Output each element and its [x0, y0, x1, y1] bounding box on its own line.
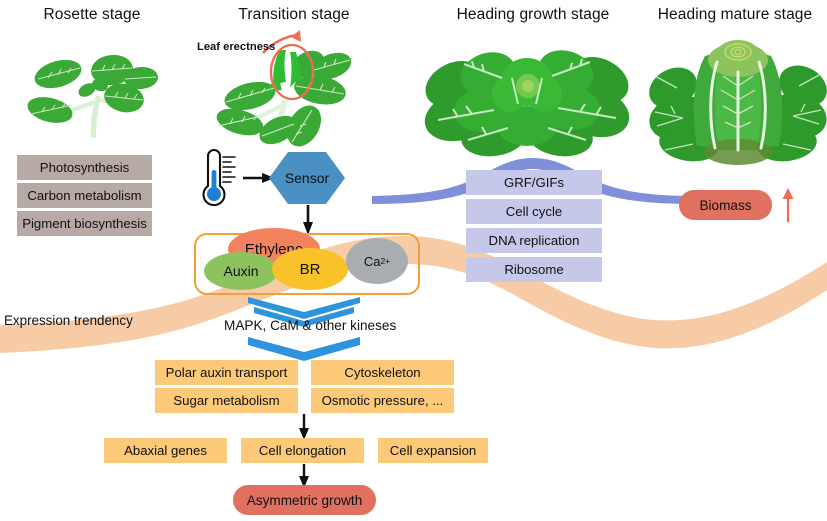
- leaf-erectness-label: Leaf erectness: [197, 41, 275, 53]
- stage-title-heading-growth: Heading growth stage: [433, 6, 633, 24]
- heading-box-grf-gifs[interactable]: GRF/GIFs: [466, 170, 602, 195]
- arrow-sensor-to-hormones: [300, 205, 316, 235]
- outcome-asymmetric-growth[interactable]: Asymmetric growth: [233, 485, 376, 515]
- thermometer-icon: [195, 148, 241, 210]
- rosette-box-carbon-metabolism[interactable]: Carbon metabolism: [17, 183, 152, 208]
- downstream-box-polar-auxin-transport[interactable]: Polar auxin transport: [155, 360, 298, 385]
- biomass-pill[interactable]: Biomass: [679, 190, 772, 220]
- downstream-box-cell-elongation[interactable]: Cell elongation: [241, 438, 364, 463]
- downstream-box-osmotic-pressure[interactable]: Osmotic pressure, ...: [311, 388, 454, 413]
- heading-box-ribosome[interactable]: Ribosome: [466, 257, 602, 282]
- rosette-box-photosynthesis[interactable]: Photosynthesis: [17, 155, 152, 180]
- rosette-plant-illustration: [28, 38, 168, 146]
- hormone-blob-auxin[interactable]: Auxin: [204, 252, 278, 290]
- calcium-superscript: 2+: [380, 256, 390, 266]
- stage-title-heading-mature: Heading mature stage: [635, 6, 827, 24]
- stage-title-rosette: Rosette stage: [0, 6, 184, 24]
- kinases-label: MAPK, CaM & other kineses: [224, 318, 396, 333]
- heading-mature-plant-illustration: [653, 26, 823, 166]
- calcium-label: Ca: [364, 254, 381, 269]
- stage-title-transition: Transition stage: [202, 6, 386, 24]
- downstream-box-cytoskeleton[interactable]: Cytoskeleton: [311, 360, 454, 385]
- heading-box-dna-replication[interactable]: DNA replication: [466, 228, 602, 253]
- heading-box-cell-cycle[interactable]: Cell cycle: [466, 199, 602, 224]
- biomass-up-arrow-icon: [779, 188, 797, 222]
- rosette-box-pigment-biosynthesis[interactable]: Pigment biosynthesis: [17, 211, 152, 236]
- downstream-box-cell-expansion[interactable]: Cell expansion: [378, 438, 488, 463]
- figure-canvas: Rosette stage Transition stage Heading g…: [0, 0, 827, 521]
- expression-trendency-label: Expression trendency: [4, 313, 133, 328]
- hormone-blob-br[interactable]: BR: [272, 248, 348, 290]
- sensor-label: Sensor: [269, 152, 345, 204]
- downstream-box-abaxial-genes[interactable]: Abaxial genes: [104, 438, 227, 463]
- downstream-box-sugar-metabolism[interactable]: Sugar metabolism: [155, 388, 298, 413]
- hormone-blob-calcium[interactable]: Ca2+: [346, 238, 408, 284]
- heading-growth-plant-illustration: [424, 28, 628, 160]
- arrow-to-cell-elongation: [296, 414, 312, 440]
